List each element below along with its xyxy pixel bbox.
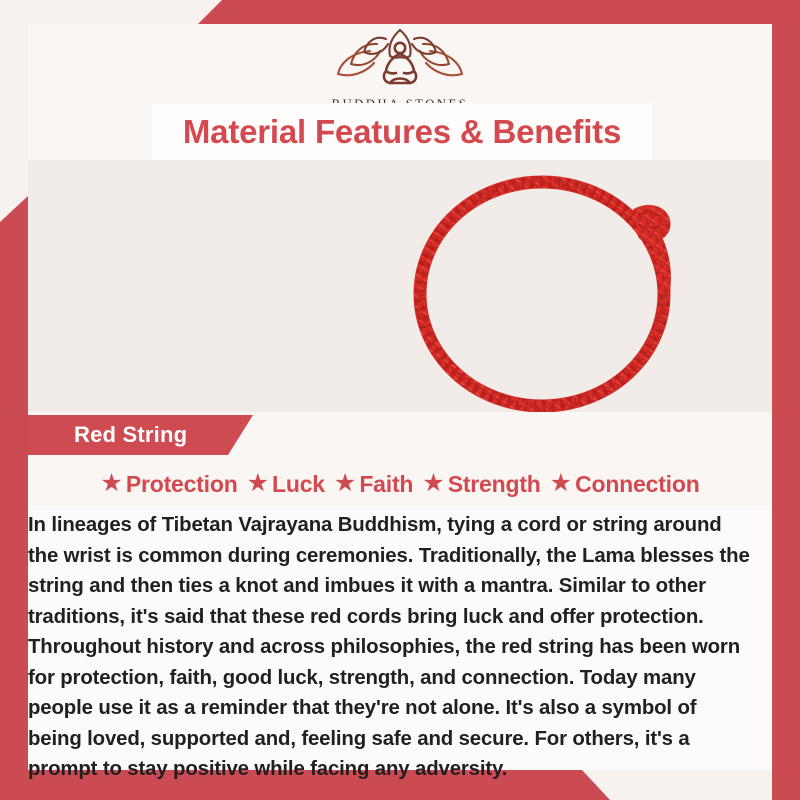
star-icon: ★ [422, 471, 444, 496]
feature-list: ★ Protection ★ Luck ★ Faith ★ Strength ★… [28, 462, 772, 506]
page-title: Material Features & Benefits [183, 113, 621, 151]
feature-item-luck: ★ Luck [247, 471, 325, 498]
star-icon: ★ [100, 471, 122, 496]
lotus-meditation-icon [330, 26, 470, 88]
red-string-bracelet-image [392, 168, 722, 412]
right-red-strip-decoration [772, 0, 800, 800]
infographic-page: BUDDHA STONES Material Features & Benefi… [0, 0, 800, 800]
feature-label: Connection [575, 471, 700, 498]
description-paragraph: In lineages of Tibetan Vajrayana Buddhis… [28, 510, 750, 785]
star-icon: ★ [550, 471, 572, 496]
title-banner: Material Features & Benefits [152, 103, 652, 160]
left-red-strip-decoration [0, 0, 28, 800]
feature-label: Strength [448, 471, 541, 498]
material-name-ribbon: Red String [28, 415, 253, 455]
feature-item-connection: ★ Connection [550, 471, 700, 498]
feature-label: Luck [272, 471, 325, 498]
feature-label: Faith [359, 471, 413, 498]
description-section: In lineages of Tibetan Vajrayana Buddhis… [28, 506, 772, 770]
product-image-stage [28, 160, 772, 412]
feature-item-protection: ★ Protection [100, 471, 237, 498]
star-icon: ★ [334, 471, 356, 496]
top-red-band-decoration [0, 0, 800, 24]
brand-header: BUDDHA STONES [0, 26, 800, 112]
material-name-label: Red String [74, 422, 187, 448]
feature-item-faith: ★ Faith [334, 471, 413, 498]
star-icon: ★ [247, 471, 269, 496]
feature-label: Protection [126, 471, 238, 498]
feature-item-strength: ★ Strength [422, 471, 540, 498]
